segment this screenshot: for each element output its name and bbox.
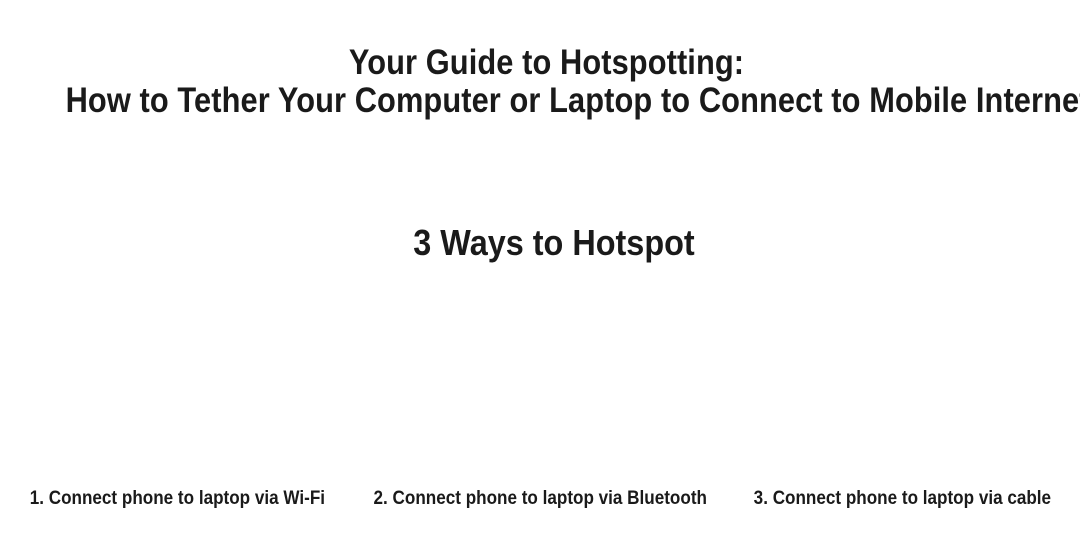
step-3-caption: 3. Connect phone to laptop via cable <box>743 486 1062 514</box>
step-1-illustration <box>0 282 360 480</box>
page-title-line-1: Your Guide to Hotspotting: <box>66 44 1028 82</box>
step-1-caption: 1. Connect phone to laptop via Wi-Fi <box>18 486 337 514</box>
page-title-line-2: How to Tether Your Computer or Laptop to… <box>66 82 1028 120</box>
step-3-illustration <box>720 282 1080 480</box>
step-2-illustration <box>360 282 720 480</box>
step-2-caption: 2. Connect phone to laptop via Bluetooth <box>373 486 706 514</box>
infographic-page: Your Guide to Hotspotting: How to Tether… <box>0 0 1080 552</box>
page-title: Your Guide to Hotspotting: How to Tether… <box>0 44 1080 120</box>
step-captions: 1. Connect phone to laptop via Wi-Fi 2. … <box>0 486 1080 514</box>
section-heading: 3 Ways to Hotspot <box>55 222 1052 264</box>
steps-illustration-area <box>0 282 1080 480</box>
